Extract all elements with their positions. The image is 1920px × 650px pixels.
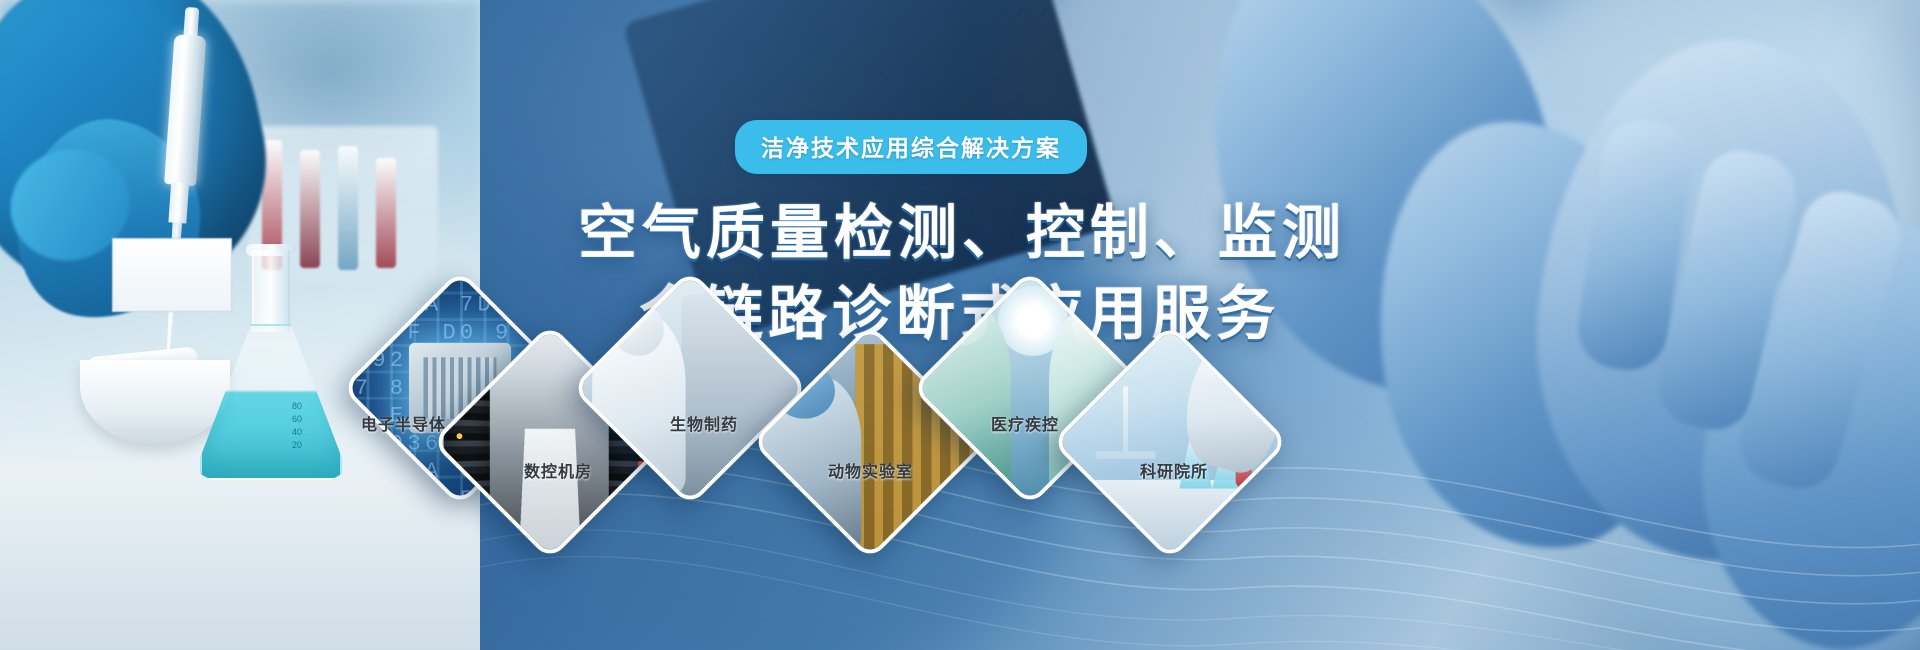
card-label-server-room: 数控机房 xyxy=(524,458,592,482)
card-label-biopharma: 生物制药 xyxy=(670,411,738,435)
cleanroom-worker-hood xyxy=(613,304,664,355)
banner-stage: 80604020 xyxy=(0,0,1920,650)
card-label-medical: 医疗疾控 xyxy=(991,411,1059,435)
rack-led xyxy=(457,433,463,439)
rack-led xyxy=(638,461,644,467)
card-label-animal-lab: 动物实验室 xyxy=(828,458,913,482)
surgeon-head xyxy=(1072,299,1128,350)
card-label-semiconductor: 电子半导体 xyxy=(361,411,446,435)
lab-bench-surface xyxy=(1053,479,1287,558)
industry-card-row: 2F CA 7DE2 F D0 95926 A7 8 1 E2C0 E BF3 … xyxy=(0,0,1920,650)
card-label-research-institute: 科研院所 xyxy=(1140,458,1208,482)
server-aisle xyxy=(519,429,582,558)
surgeon-head xyxy=(932,295,988,346)
